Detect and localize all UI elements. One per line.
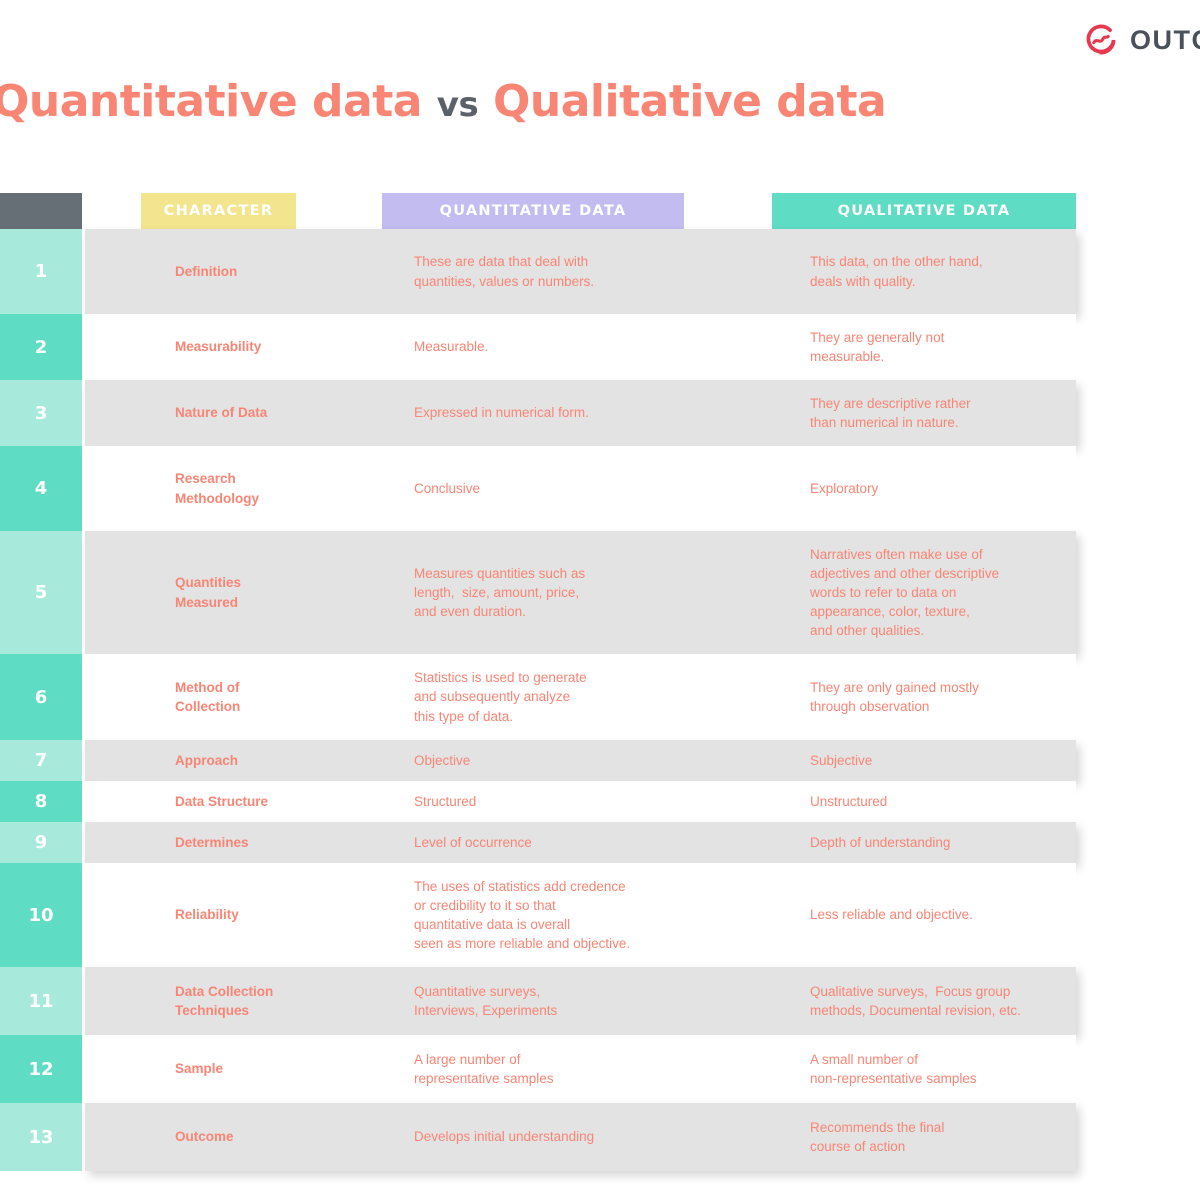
title-connector: vs: [437, 85, 478, 125]
cell-quantitative: Statistics is used to generate and subse…: [414, 654, 794, 740]
cell-quantitative: Expressed in numerical form.: [414, 380, 794, 446]
cell-character: Reliability: [175, 863, 390, 967]
cell-character: Research Methodology: [175, 446, 390, 531]
table-row: 3Nature of DataExpressed in numerical fo…: [0, 380, 1200, 446]
row-number: 9: [0, 822, 82, 863]
cell-qualitative: Recommends the final course of action: [810, 1103, 1090, 1171]
row-number: 12: [0, 1035, 82, 1103]
cell-character: Outcome: [175, 1103, 390, 1171]
cell-quantitative: Objective: [414, 740, 794, 781]
row-number: 5: [0, 531, 82, 654]
header-quantitative: QUANTITATIVE DATA: [382, 193, 684, 229]
cell-qualitative: A small number of non-representative sam…: [810, 1035, 1090, 1103]
cell-qualitative: This data, on the other hand, deals with…: [810, 229, 1090, 314]
cell-character: Measurability: [175, 314, 390, 380]
header-character-label: CHARACTER: [164, 203, 274, 219]
cell-quantitative: Quantitative surveys, Interviews, Experi…: [414, 967, 794, 1035]
header-qualitative-label: QUALITATIVE DATA: [838, 203, 1011, 219]
cell-character: Sample: [175, 1035, 390, 1103]
cell-quantitative: Measurable.: [414, 314, 794, 380]
cell-character: Determines: [175, 822, 390, 863]
cell-quantitative: The uses of statistics add credence or c…: [414, 863, 794, 967]
cell-character: Quantities Measured: [175, 531, 390, 654]
comparison-table: CHARACTER QUANTITATIVE DATA QUALITATIVE …: [0, 193, 1200, 1171]
cell-character: Method of Collection: [175, 654, 390, 740]
row-number: 3: [0, 380, 82, 446]
table-row: 11Data Collection TechniquesQuantitative…: [0, 967, 1200, 1035]
row-number: 6: [0, 654, 82, 740]
cell-quantitative: A large number of representative samples: [414, 1035, 794, 1103]
cell-quantitative: Measures quantities such as length, size…: [414, 531, 794, 654]
row-number: 1: [0, 229, 82, 314]
table-row: 8Data StructureStructuredUnstructured: [0, 781, 1200, 822]
cell-qualitative: They are generally not measurable.: [810, 314, 1090, 380]
row-number: 10: [0, 863, 82, 967]
table-row: 6Method of CollectionStatistics is used …: [0, 654, 1200, 740]
cell-character: Nature of Data: [175, 380, 390, 446]
outcome-circle-logo-icon: [1083, 22, 1119, 58]
table-header-row: CHARACTER QUANTITATIVE DATA QUALITATIVE …: [0, 193, 1200, 229]
brand-logo: OUTCO: [1083, 22, 1200, 58]
cell-quantitative: Structured: [414, 781, 794, 822]
cell-quantitative: These are data that deal with quantities…: [414, 229, 794, 314]
table-row: 1DefinitionThese are data that deal with…: [0, 229, 1200, 314]
table-body: 1DefinitionThese are data that deal with…: [0, 229, 1200, 1171]
cell-character: Approach: [175, 740, 390, 781]
cell-quantitative: Conclusive: [414, 446, 794, 531]
cell-qualitative: Less reliable and objective.: [810, 863, 1090, 967]
row-number: 11: [0, 967, 82, 1035]
title-qualitative: Qualitative data: [493, 76, 886, 127]
header-number-block: [0, 193, 82, 229]
table-row: 13OutcomeDevelops initial understandingR…: [0, 1103, 1200, 1171]
page-title: Quantitative data vs Qualitative data: [0, 76, 886, 127]
header-character: CHARACTER: [141, 193, 296, 229]
row-number: 2: [0, 314, 82, 380]
cell-qualitative: They are descriptive rather than numeric…: [810, 380, 1090, 446]
cell-qualitative: Exploratory: [810, 446, 1090, 531]
row-number: 7: [0, 740, 82, 781]
header-quantitative-label: QUANTITATIVE DATA: [440, 203, 627, 219]
header-qualitative: QUALITATIVE DATA: [772, 193, 1076, 229]
row-number: 4: [0, 446, 82, 531]
row-number: 13: [0, 1103, 82, 1171]
table-row: 7ApproachObjectiveSubjective: [0, 740, 1200, 781]
cell-qualitative: Depth of understanding: [810, 822, 1090, 863]
cell-qualitative: Unstructured: [810, 781, 1090, 822]
cell-qualitative: Narratives often make use of adjectives …: [810, 531, 1090, 654]
cell-qualitative: Qualitative surveys, Focus group methods…: [810, 967, 1090, 1035]
cell-qualitative: They are only gained mostly through obse…: [810, 654, 1090, 740]
cell-qualitative: Subjective: [810, 740, 1090, 781]
table-row: 5Quantities MeasuredMeasures quantities …: [0, 531, 1200, 654]
table-row: 4Research MethodologyConclusiveExplorato…: [0, 446, 1200, 531]
table-row: 12SampleA large number of representative…: [0, 1035, 1200, 1103]
table-row: 2MeasurabilityMeasurable.They are genera…: [0, 314, 1200, 380]
title-quantitative: Quantitative data: [0, 76, 422, 127]
table-row: 9DeterminesLevel of occurrenceDepth of u…: [0, 822, 1200, 863]
logo-wordmark: OUTCO: [1130, 25, 1200, 56]
cell-character: Data Collection Techniques: [175, 967, 390, 1035]
cell-quantitative: Develops initial understanding: [414, 1103, 794, 1171]
cell-quantitative: Level of occurrence: [414, 822, 794, 863]
table-row: 10ReliabilityThe uses of statistics add …: [0, 863, 1200, 967]
cell-character: Definition: [175, 229, 390, 314]
cell-character: Data Structure: [175, 781, 390, 822]
row-number: 8: [0, 781, 82, 822]
